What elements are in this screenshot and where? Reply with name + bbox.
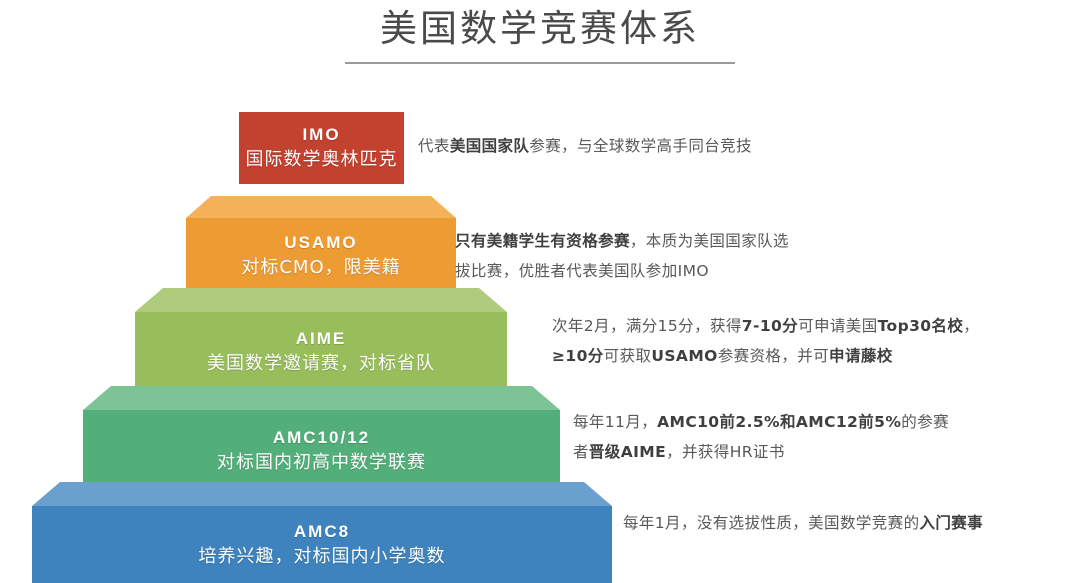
note-imo: 代表美国国家队参赛，与全球数学高手同台竞技	[418, 131, 752, 161]
note-text-segment: ，本质为美国国家队选	[630, 232, 789, 250]
note-text-segment: Top30名校	[878, 317, 964, 335]
note-aime: 次年2月，满分15分，获得7-10分可申请美国Top30名校，≥10分可获取US…	[552, 311, 979, 371]
note-imo-line-1: 代表美国国家队参赛，与全球数学高手同台竞技	[418, 131, 752, 161]
note-text-segment: 入门赛事	[919, 514, 983, 532]
note-text-segment: 申请藤校	[829, 347, 893, 365]
note-usamo-line-1: 只有美籍学生有资格参赛，本质为美国国家队选	[455, 226, 789, 256]
note-aime-line-2: ≥10分可获取USAMO参赛资格，并可申请藤校	[552, 341, 979, 371]
note-text-segment: 参赛资格，并可	[718, 347, 829, 365]
note-text-segment: 晋级AIME	[589, 443, 666, 461]
note-text-segment: 次年2月，满分15分，获得	[552, 317, 742, 335]
note-text-segment: ≥10分	[552, 347, 604, 365]
note-text-segment: 每年1月，没有选拔性质，美国数学竞赛的	[623, 514, 919, 532]
infographic-page: 美国数学竞赛体系 IMO国际数学奥林匹克USAMO对标CMO，限美籍AIME美国…	[0, 0, 1080, 583]
note-text-segment: 每年11月，	[573, 413, 657, 431]
note-usamo: 只有美籍学生有资格参赛，本质为美国国家队选拔比赛，优胜者代表美国队参加IMO	[455, 226, 789, 286]
tier-descriptions: 代表美国国家队参赛，与全球数学高手同台竞技只有美籍学生有资格参赛，本质为美国国家…	[0, 0, 1080, 583]
note-text-segment: USAMO	[651, 347, 717, 365]
note-text-segment: 的参赛	[901, 413, 949, 431]
note-aime-line-1: 次年2月，满分15分，获得7-10分可申请美国Top30名校，	[552, 311, 979, 341]
note-text-segment: 可获取	[604, 347, 652, 365]
note-text-segment: 拔比赛，优胜者代表美国队参加IMO	[455, 262, 709, 280]
note-text-segment: 代表	[418, 137, 450, 155]
note-text-segment: 7-10分	[742, 317, 798, 335]
note-text-segment: AMC10前2.5%和AMC12前5%	[657, 413, 901, 431]
note-text-segment: ，并获得HR证书	[666, 443, 785, 461]
note-text-segment: 只有美籍学生有资格参赛	[455, 232, 630, 250]
note-amc1012: 每年11月，AMC10前2.5%和AMC12前5%的参赛者晋级AIME，并获得H…	[573, 407, 949, 467]
note-amc8: 每年1月，没有选拔性质，美国数学竞赛的入门赛事	[623, 508, 983, 538]
note-text-segment: ，	[963, 317, 979, 335]
note-text-segment: 者	[573, 443, 589, 461]
note-amc1012-line-1: 每年11月，AMC10前2.5%和AMC12前5%的参赛	[573, 407, 949, 437]
note-usamo-line-2: 拔比赛，优胜者代表美国队参加IMO	[455, 256, 789, 286]
note-text-segment: 可申请美国	[798, 317, 878, 335]
note-text-segment: 参赛，与全球数学高手同台竞技	[529, 137, 752, 155]
note-amc8-line-1: 每年1月，没有选拔性质，美国数学竞赛的入门赛事	[623, 508, 983, 538]
note-amc1012-line-2: 者晋级AIME，并获得HR证书	[573, 437, 949, 467]
note-text-segment: 美国国家队	[450, 137, 530, 155]
